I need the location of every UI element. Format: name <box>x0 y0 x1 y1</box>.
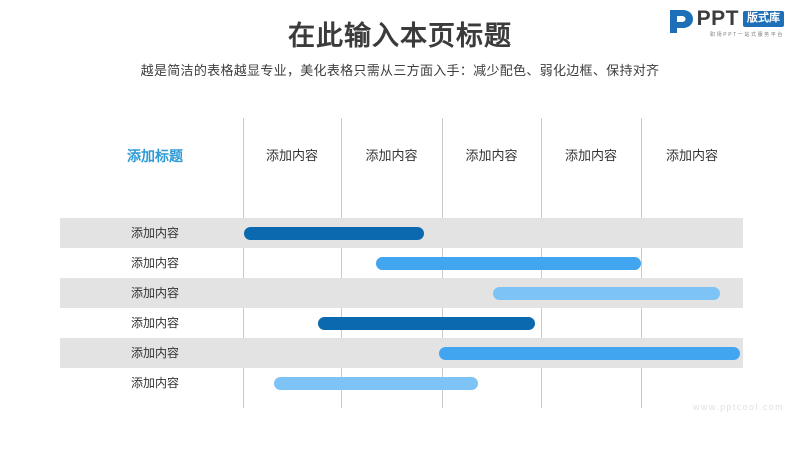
gantt-bar-row-4[interactable] <box>318 317 535 330</box>
table-title-header: 添加标题 <box>90 138 220 174</box>
table-row: 添加内容 <box>0 278 800 308</box>
row-label: 添加内容 <box>90 248 220 278</box>
row-label: 添加内容 <box>90 368 220 398</box>
table-column-header-4: 添加内容 <box>541 138 641 174</box>
brand-badge: 版式库 <box>743 11 784 27</box>
gantt-bar-row-5[interactable] <box>439 347 740 360</box>
gantt-bar-row-1[interactable] <box>244 227 424 240</box>
table-column-header-1: 添加内容 <box>243 138 341 174</box>
table-column-header-2: 添加内容 <box>341 138 442 174</box>
brand-tagline: 职场PPT一站式服务平台 <box>697 31 784 38</box>
row-label: 添加内容 <box>90 278 220 308</box>
table-rows-area: 添加内容添加内容添加内容添加内容添加内容添加内容 <box>0 218 800 410</box>
gantt-table: 添加标题 添加内容添加内容添加内容添加内容添加内容 添加内容添加内容添加内容添加… <box>0 92 800 422</box>
page-subtitle: 越是简洁的表格越显专业，美化表格只需从三方面入手：减少配色、弱化边框、保持对齐 <box>0 60 800 79</box>
table-column-header-3: 添加内容 <box>442 138 541 174</box>
table-column-header-5: 添加内容 <box>641 138 743 174</box>
row-label: 添加内容 <box>90 338 220 368</box>
gantt-bar-row-2[interactable] <box>376 257 641 270</box>
table-row: 添加内容 <box>0 368 800 398</box>
table-row: 添加内容 <box>0 338 800 368</box>
row-label: 添加内容 <box>90 218 220 248</box>
gantt-bar-row-3[interactable] <box>493 287 720 300</box>
brand-logo: PPT 版式库 职场PPT一站式服务平台 <box>668 8 784 42</box>
table-row: 添加内容 <box>0 218 800 248</box>
brand-text: PPT 版式库 职场PPT一站式服务平台 <box>697 8 784 38</box>
gantt-bar-row-6[interactable] <box>274 377 478 390</box>
table-header-row: 添加标题 添加内容添加内容添加内容添加内容添加内容 <box>0 138 800 174</box>
table-row: 添加内容 <box>0 248 800 278</box>
slide-header: 在此输入本页标题 越是简洁的表格越显专业，美化表格只需从三方面入手：减少配色、弱… <box>0 0 800 92</box>
footer-watermark: www.pptcool.com <box>693 402 784 412</box>
brand-row: PPT 版式库 <box>697 8 784 29</box>
table-row: 添加内容 <box>0 308 800 338</box>
row-label: 添加内容 <box>90 308 220 338</box>
brand-name: PPT <box>697 8 739 29</box>
stylized-p-logo-icon <box>668 8 694 35</box>
